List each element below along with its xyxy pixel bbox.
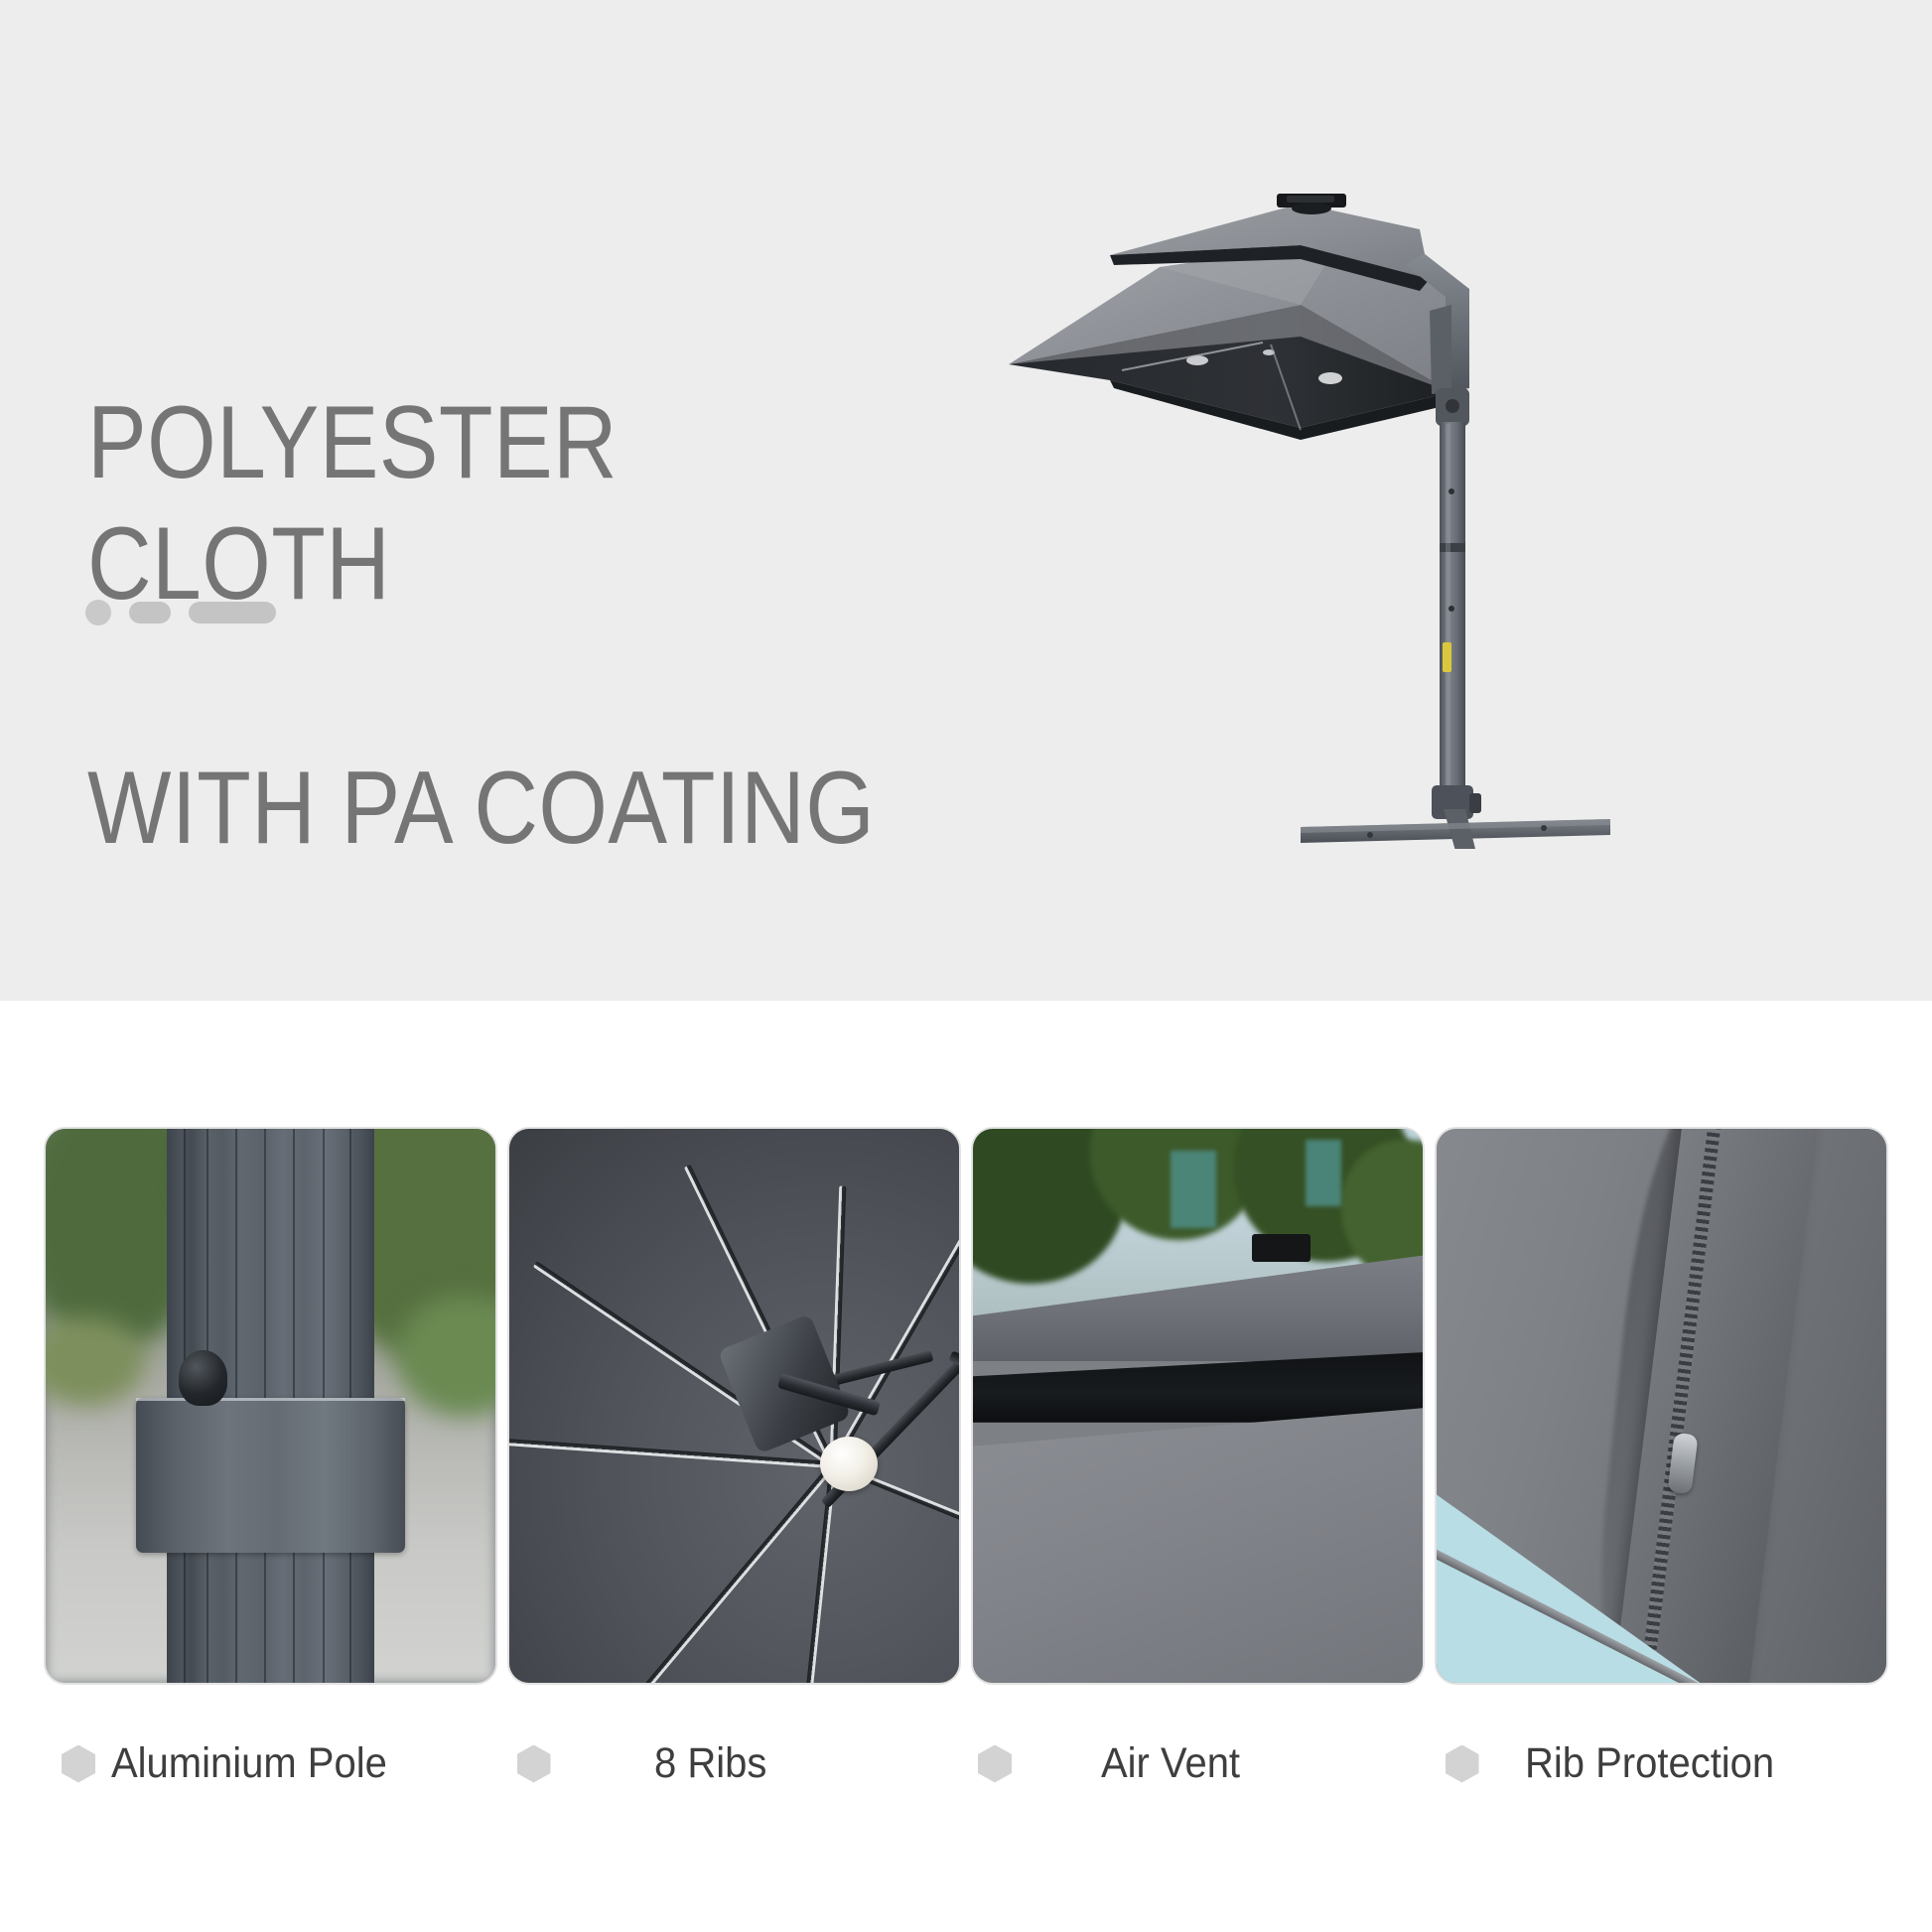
hero-section: POLYESTER CLOTH WITH PA COATING [0,0,1932,1001]
feature-label-text: Aluminium Pole [111,1739,387,1788]
feature-panel-strip [0,1127,1932,1685]
feature-panel-aluminium-pole[interactable] [44,1127,497,1685]
headline-line-2: WITH PA COATING [87,748,941,870]
pole-knob-icon [179,1350,228,1406]
bar-indicator-large-icon [189,602,276,623]
hexagon-bullet-icon [517,1745,551,1783]
page-title: POLYESTER CLOTH WITH PA COATING [87,260,941,991]
warning-label [1443,642,1451,672]
feature-panel-8-ribs[interactable] [507,1127,961,1685]
feature-label-aluminium-pole: Aluminium Pole [44,1739,505,1788]
pole-hinge [1436,388,1469,426]
feature-label-text: 8 Ribs [654,1739,766,1788]
hexagon-bullet-icon [978,1745,1012,1783]
feature-label-text: Air Vent [1101,1739,1240,1788]
dot-indicator-icon [85,600,111,625]
cross-base [1301,809,1610,849]
headline-line-1: POLYESTER CLOTH [87,382,941,625]
aluminium-pole [1440,422,1465,809]
pole-collar [136,1398,406,1553]
feature-label-8-ribs: 8 Ribs [505,1739,961,1788]
hexagon-bullet-icon [62,1745,95,1783]
feature-label-rib-protection: Rib Protection [1422,1739,1889,1788]
decorative-indicator-group [85,600,276,625]
feature-label-row: Aluminium Pole 8 Ribs Air Vent Rib Prote… [0,1739,1932,1788]
feature-label-air-vent: Air Vent [960,1739,1422,1788]
bar-indicator-small-icon [129,602,171,623]
solar-cap-icon [1252,1234,1311,1262]
cantilever-umbrella-illustration [1003,194,1618,849]
feature-label-text: Rib Protection [1525,1739,1774,1788]
feature-panel-air-vent[interactable] [971,1127,1425,1685]
canopy-lower-tier [973,1406,1423,1683]
hexagon-bullet-icon [1446,1745,1479,1783]
feature-panel-rib-protection[interactable] [1435,1127,1888,1685]
